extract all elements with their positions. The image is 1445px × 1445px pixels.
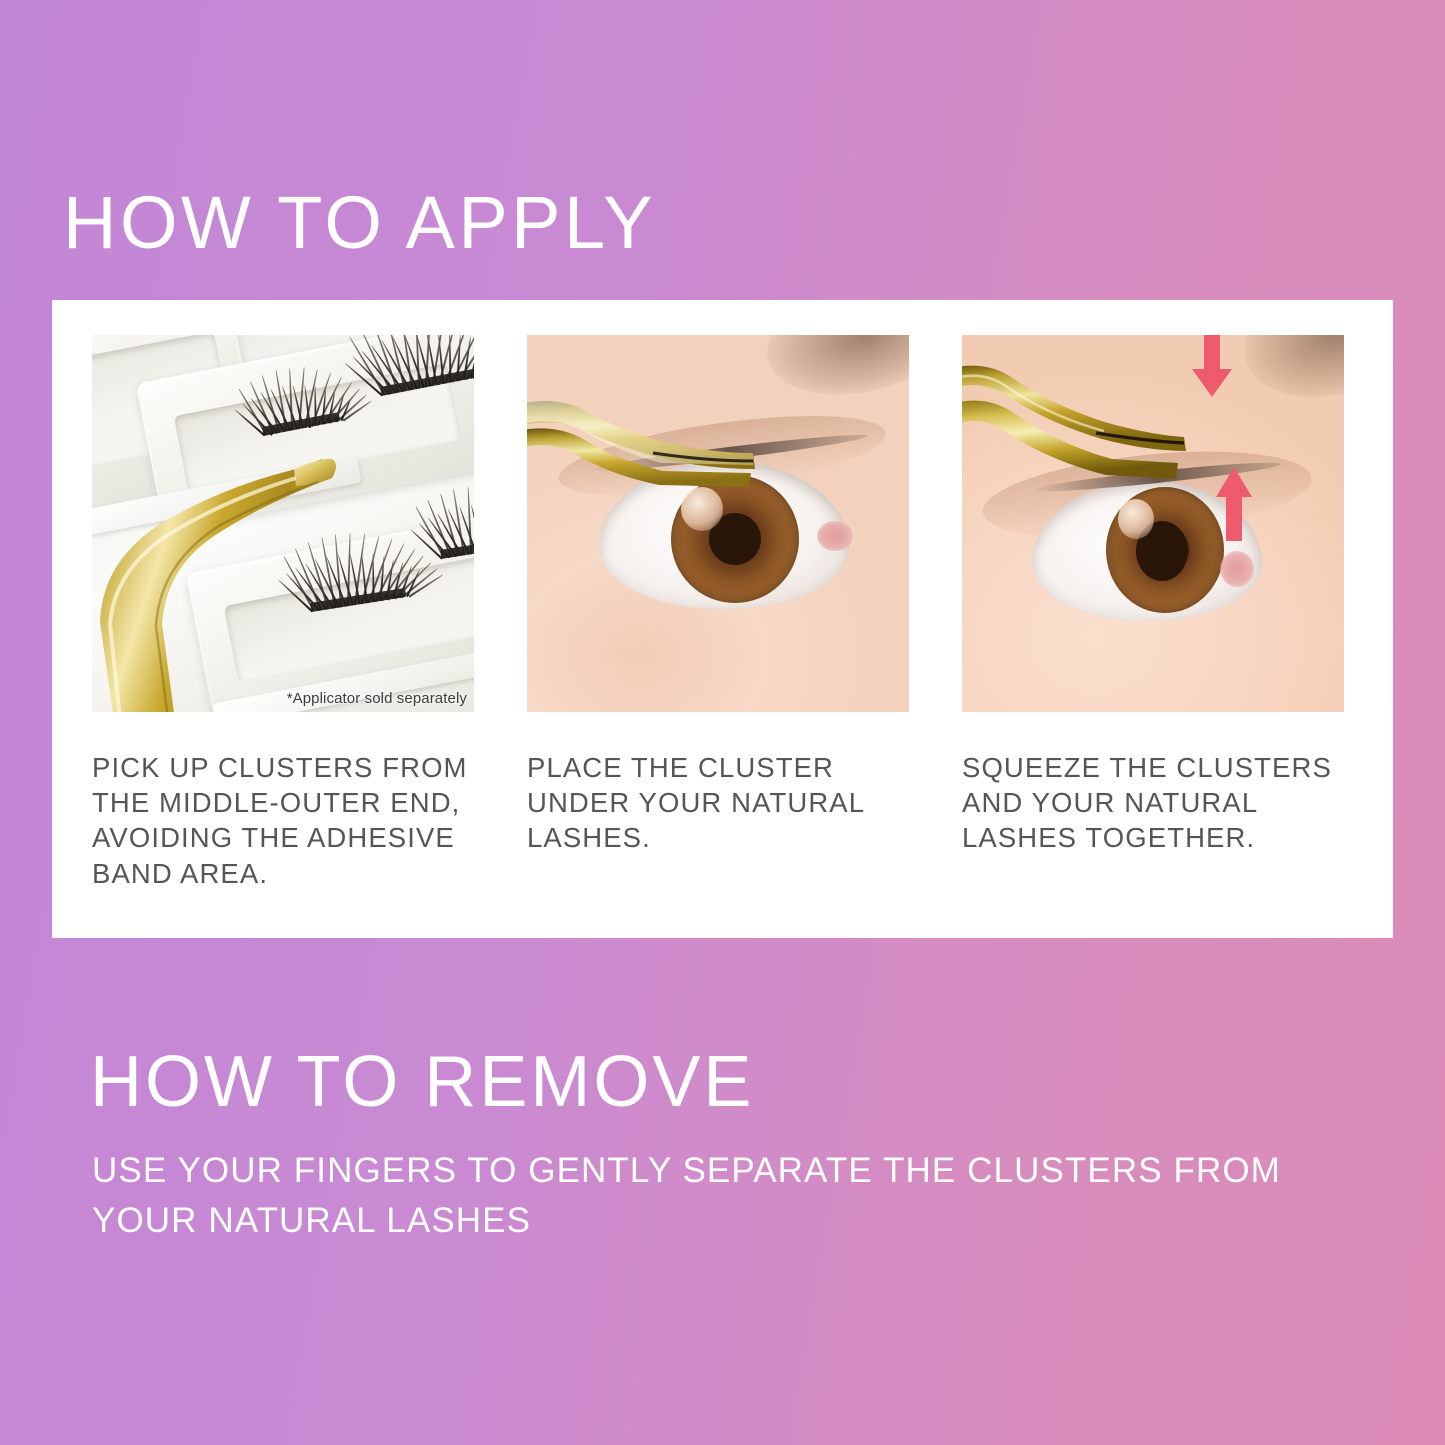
gold-applicator-icon	[527, 369, 821, 529]
lash-tray-with-applicator-photo: *Applicator sold separately	[92, 335, 474, 712]
arrow-up-icon	[1214, 465, 1254, 543]
apply-step-1-caption: PICK UP CLUSTERS FROM THE MIDDLE-OUTER E…	[92, 750, 474, 891]
arrow-down-icon	[1190, 335, 1234, 399]
apply-steps-row: *Applicator sold separately PICK UP CLUS…	[92, 335, 1344, 891]
apply-step-2-caption: PLACE THE CLUSTER UNDER YOUR NATURAL LAS…	[527, 750, 909, 856]
how-to-apply-infographic: HOW TO APPLY	[0, 0, 1445, 1445]
tear-duct	[817, 521, 853, 551]
tear-duct	[1220, 551, 1254, 587]
apply-steps-card: *Applicator sold separately PICK UP CLUS…	[52, 300, 1393, 938]
remove-section-subtitle: USE YOUR FINGERS TO GENTLY SEPARATE THE …	[92, 1146, 1292, 1245]
apply-step-2: PLACE THE CLUSTER UNDER YOUR NATURAL LAS…	[527, 335, 909, 891]
apply-step-3: SQUEEZE THE CLUSTERS AND YOUR NATURAL LA…	[962, 335, 1344, 891]
apply-step-3-caption: SQUEEZE THE CLUSTERS AND YOUR NATURAL LA…	[962, 750, 1344, 856]
gold-applicator-icon	[92, 412, 352, 712]
applicator-note: *Applicator sold separately	[287, 690, 467, 707]
eye-squeezing-cluster-photo	[962, 335, 1344, 712]
remove-section-title: HOW TO REMOVE	[90, 1046, 754, 1118]
eye-placing-cluster-photo	[527, 335, 909, 712]
apply-step-1: *Applicator sold separately PICK UP CLUS…	[92, 335, 474, 891]
apply-section-title: HOW TO APPLY	[63, 186, 656, 260]
